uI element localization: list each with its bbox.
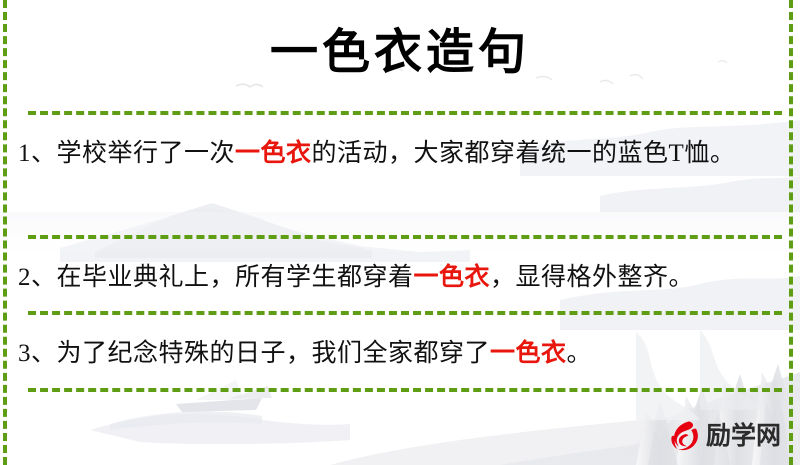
site-watermark-logo: 励学网: [666, 416, 790, 456]
sentence-1-keyword: 一色衣: [235, 140, 312, 167]
sentence-item-2: 2、在毕业典礼上，所有学生都穿着一色衣，显得格外整齐。: [18, 256, 774, 300]
frame-border-right: [789, 0, 793, 465]
sentence-1-index: 1、: [18, 140, 57, 167]
sentence-3-keyword: 一色衣: [490, 340, 567, 367]
site-brand-name: 励学网: [706, 418, 781, 454]
page-title: 一色衣造句: [0, 23, 800, 81]
sentence-2-before: 在毕业典礼上，所有学生都穿着: [57, 264, 414, 291]
frame-border-left: [3, 0, 7, 465]
sentence-item-3: 3、为了纪念特殊的日子，我们全家都穿了一色衣。: [18, 332, 774, 376]
sentence-1-before: 学校举行了一次: [57, 140, 236, 167]
sentence-2-after: ，显得格外整齐。: [490, 264, 694, 291]
divider-after-title: [28, 111, 782, 115]
divider-after-sentence-1: [28, 235, 782, 239]
divider-after-sentence-3: [28, 388, 782, 392]
sentence-2-index: 2、: [18, 264, 57, 291]
sentence-3-index: 3、: [18, 340, 57, 367]
sentence-3-before: 为了纪念特殊的日子，我们全家都穿了: [57, 340, 491, 367]
sentence-item-1: 1、学校举行了一次一色衣的活动，大家都穿着统一的蓝色T恤。: [18, 132, 774, 176]
sentence-worksheet-page: 一色衣造句 1、学校举行了一次一色衣的活动，大家都穿着统一的蓝色T恤。 2、在毕…: [0, 0, 800, 465]
flame-swirl-icon: [666, 418, 702, 454]
sentence-3-after: 。: [567, 340, 593, 367]
sentence-1-after: 的活动，大家都穿着统一的蓝色T恤。: [312, 140, 736, 167]
divider-after-sentence-2: [28, 311, 782, 315]
sentence-2-keyword: 一色衣: [414, 264, 491, 291]
